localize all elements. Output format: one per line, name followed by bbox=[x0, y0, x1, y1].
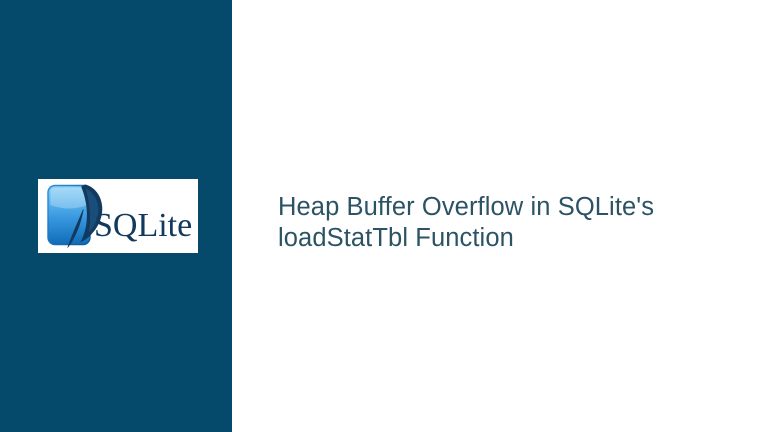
sqlite-logo-card: SQLite bbox=[38, 179, 198, 253]
title-slide: SQLite Heap Buffer Overflow in SQLite's … bbox=[0, 0, 768, 432]
sqlite-logo-icon: SQLite bbox=[38, 179, 198, 253]
main-content-panel: Heap Buffer Overflow in SQLite's loadSta… bbox=[232, 0, 768, 432]
sqlite-wordmark-text: SQLite bbox=[94, 207, 192, 244]
sidebar-panel: SQLite bbox=[0, 0, 232, 432]
page-title: Heap Buffer Overflow in SQLite's loadSta… bbox=[278, 192, 748, 254]
